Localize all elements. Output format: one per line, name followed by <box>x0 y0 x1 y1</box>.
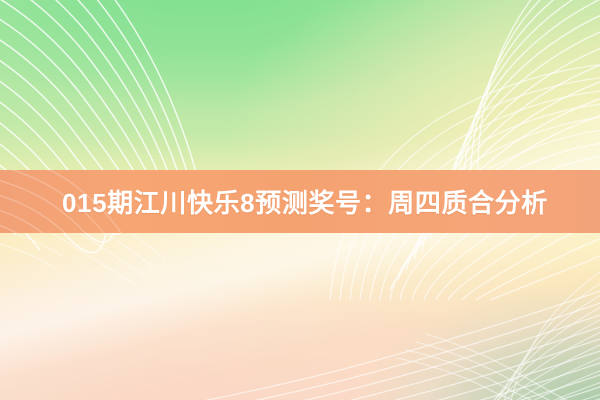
title-band: 015期江川快乐8预测奖号：周四质合分析 <box>0 170 600 233</box>
arc-lines-bottom-icon <box>0 250 600 400</box>
promo-banner: 015期江川快乐8预测奖号：周四质合分析 <box>0 0 600 400</box>
page-title: 015期江川快乐8预测奖号：周四质合分析 <box>62 170 548 233</box>
arc-lines-bottom-right-icon <box>330 230 600 400</box>
arc-lines-right-icon <box>270 10 600 300</box>
